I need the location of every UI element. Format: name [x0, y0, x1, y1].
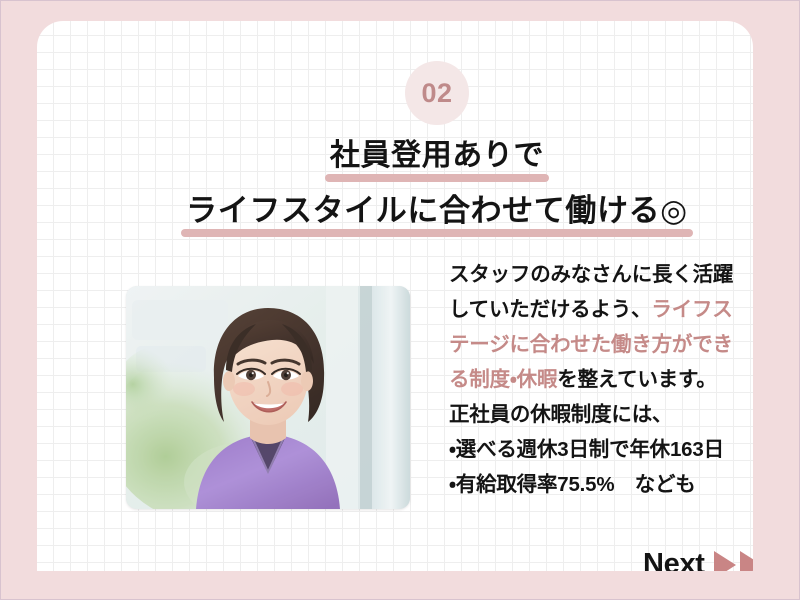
copy-line-6: ・選べる週休3日制で年休163日 [449, 440, 753, 461]
copy-line-7-text: ・有給取得率75.5% なども [449, 473, 696, 496]
next-button[interactable]: Next [643, 550, 753, 571]
slide-panel: 02 社員登用ありで ライフスタイルに合わせて働ける◎ [37, 21, 753, 571]
staff-photo-illustration [126, 286, 410, 509]
copy-line-4: る制度・休暇を整えています。 [449, 370, 753, 391]
copy-line-5-text: 正社員の休暇制度には、 [449, 403, 672, 426]
copy-line-4-accent: る制度・休暇 [449, 368, 557, 391]
headline-line-2: ライフスタイルに合わせて働ける◎ [186, 194, 688, 238]
step-badge: 02 [405, 61, 469, 125]
body-copy: スタッフのみなさんに長く活躍 していただけるよう、ライフス テージに合わせた働き… [449, 265, 753, 510]
headline-line-1: 社員登用ありで [330, 139, 544, 182]
headline-line-2-wrap: ライフスタイルに合わせて働ける◎ [37, 194, 753, 238]
copy-line-7: ・有給取得率75.5% なども [449, 475, 753, 496]
copy-line-2: していただけるよう、ライフス [449, 300, 753, 321]
copy-line-5: 正社員の休暇制度には、 [449, 405, 753, 426]
staff-photo [126, 286, 410, 509]
page-title: 社員登用ありで ライフスタイルに合わせて働ける◎ [37, 139, 753, 237]
copy-line-3: テージに合わせた働き方ができ [449, 335, 753, 356]
play-arrow-icon [714, 551, 736, 572]
copy-line-6-text: ・選べる週休3日制で年休163日 [449, 438, 724, 461]
slide-frame: 02 社員登用ありで ライフスタイルに合わせて働ける◎ [0, 0, 800, 600]
step-badge-number: 02 [421, 80, 452, 107]
copy-line-1-text: スタッフのみなさんに長く活躍 [449, 263, 733, 286]
copy-line-2-text: していただけるよう、 [449, 298, 651, 321]
play-arrow-icon [740, 551, 753, 572]
copy-line-3-accent: テージに合わせた働き方ができ [449, 333, 733, 356]
next-button-label: Next [643, 550, 705, 571]
headline-line-1-wrap: 社員登用ありで [37, 139, 753, 182]
copy-line-4-text: を整えています。 [557, 368, 716, 391]
copy-line-2-accent: ライフス [651, 298, 732, 321]
copy-line-1: スタッフのみなさんに長く活躍 [449, 265, 753, 286]
next-arrows [714, 551, 753, 572]
